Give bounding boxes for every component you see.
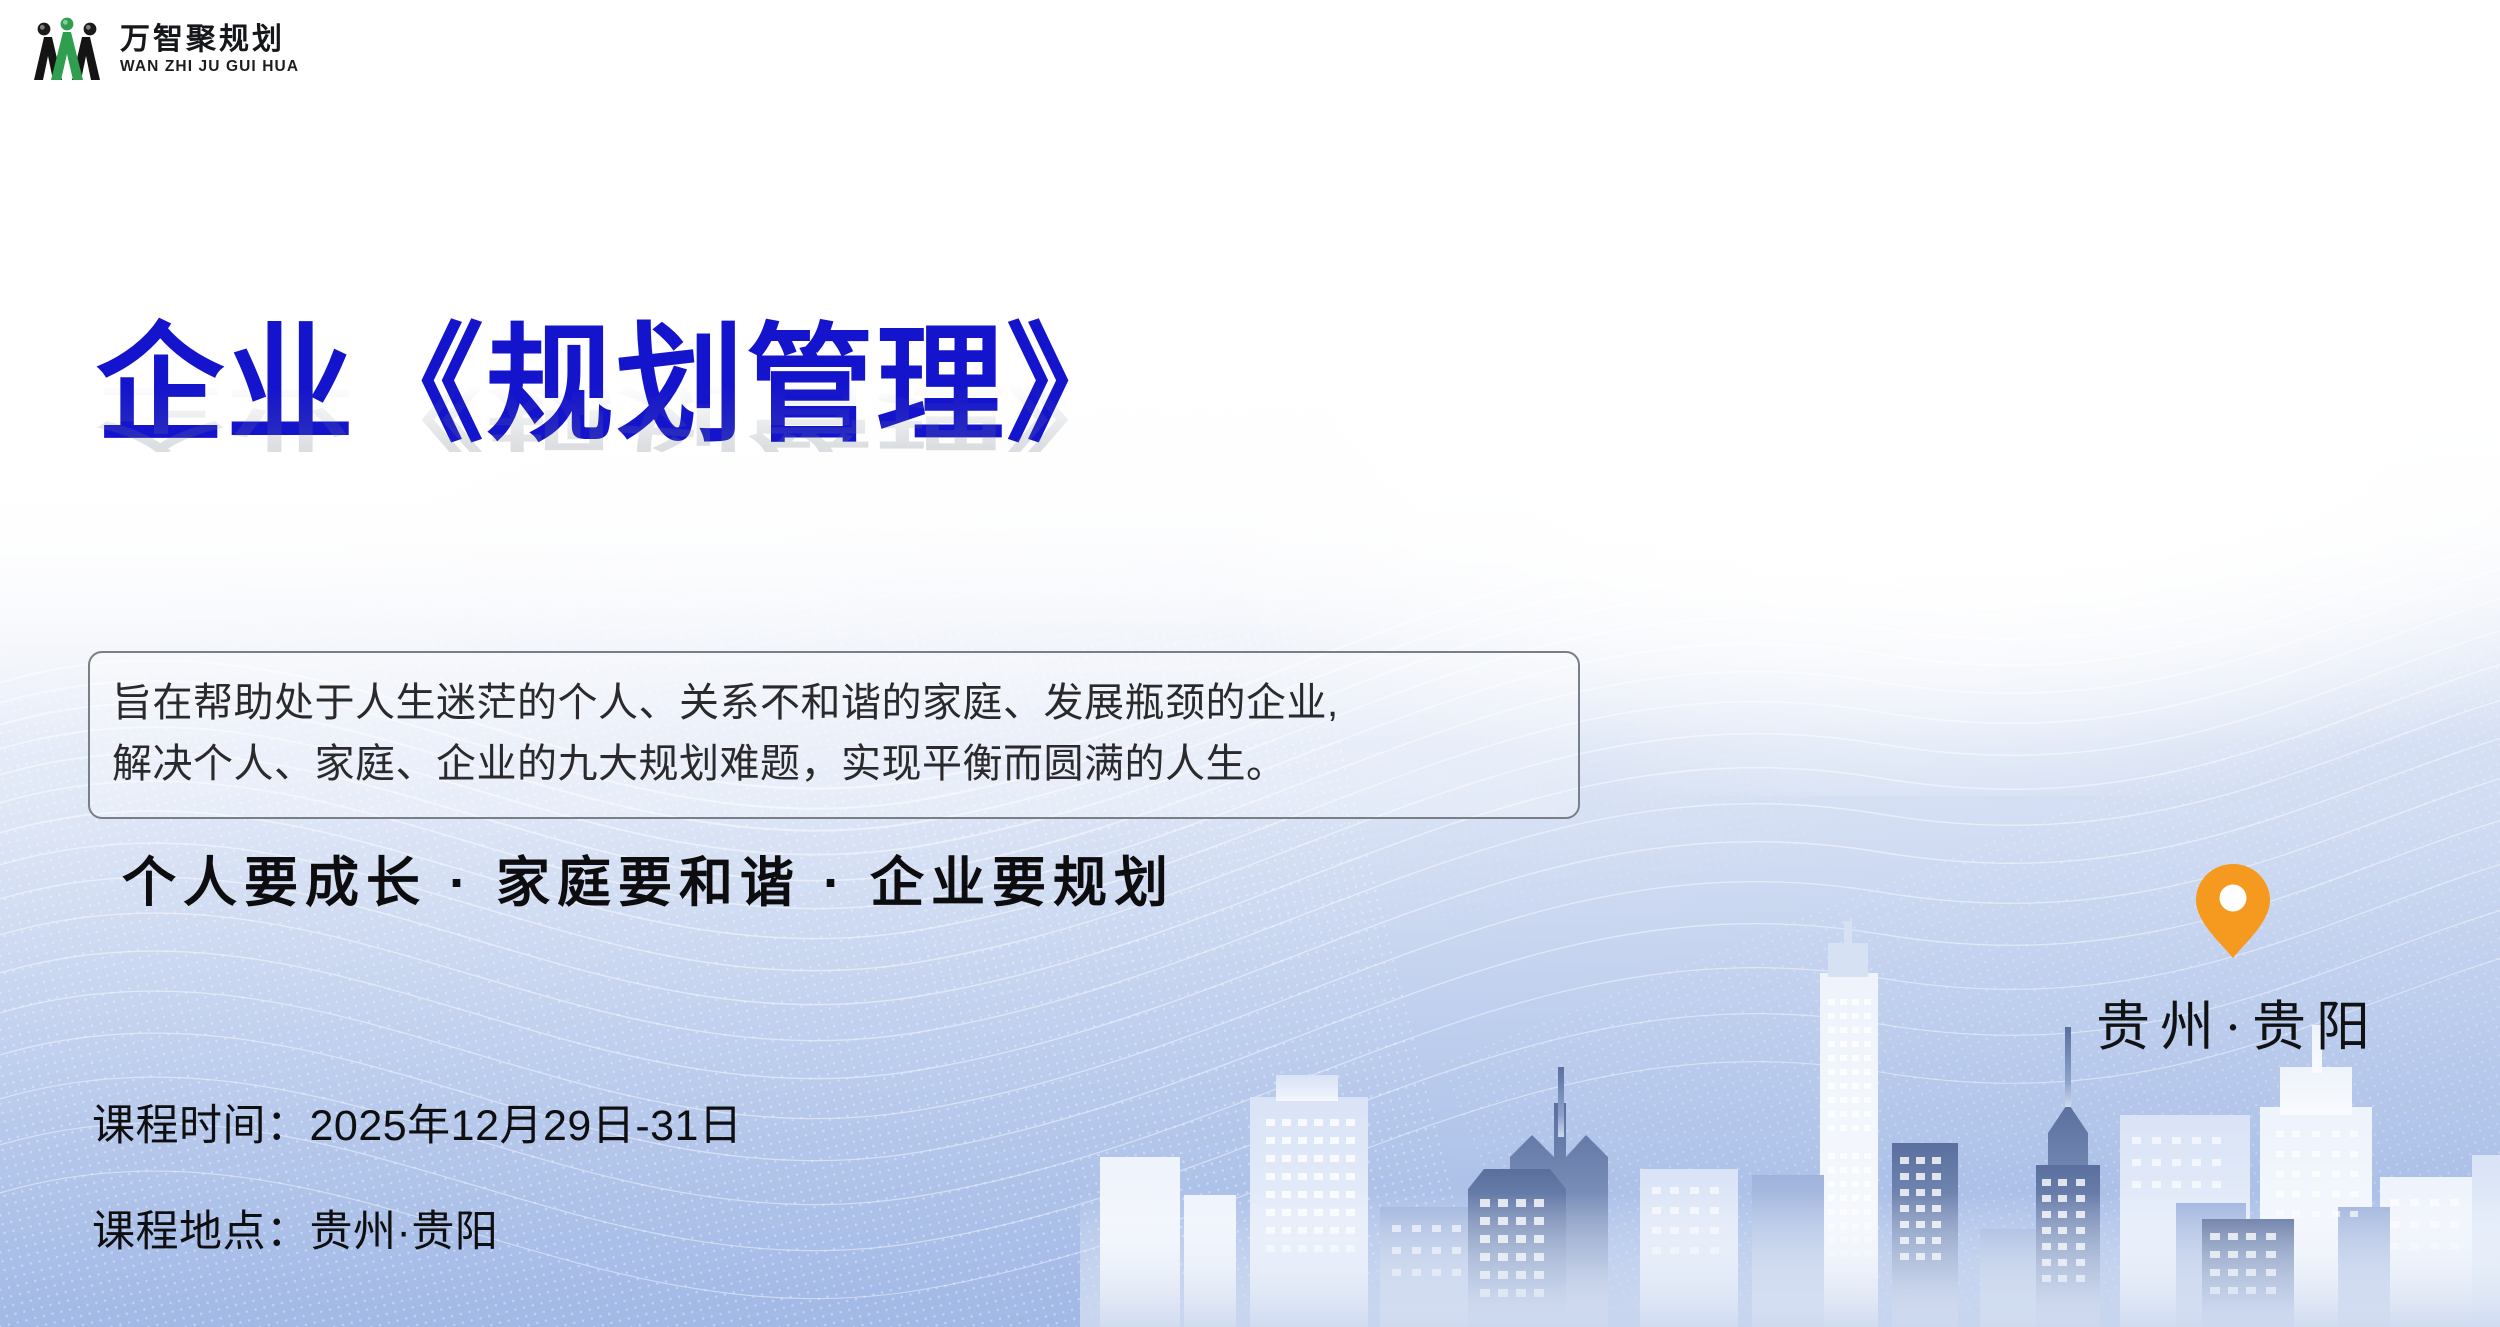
brand-logo-text: 万智聚规划 WAN ZHI JU GUI HUA [120,24,299,77]
slogan-text: 个人要成长 · 家庭要和谐 · 企业要规划 [122,838,1175,917]
course-date-row: 课程时间：2025年12月29日-31日 [92,1091,742,1153]
poster-canvas: 万智聚规划 WAN ZHI JU GUI HUA 企业《规划管理》 企业《规划管… [0,0,2500,1327]
map-pin-icon [2192,862,2274,960]
description-line-1: 旨在帮助处于人生迷茫的个人、关系不和谐的家庭、发展瓶颈的企业, [112,673,1554,734]
three-people-m-logo-icon [28,14,106,86]
location-label: 贵州·贵阳 [2086,982,2380,1061]
brand-name-pinyin: WAN ZHI JU GUI HUA [120,58,299,76]
description-box: 旨在帮助处于人生迷茫的个人、关系不和谐的家庭、发展瓶颈的企业, 解决个人、家庭、… [88,651,1580,819]
brand-logo[interactable]: 万智聚规划 WAN ZHI JU GUI HUA [28,14,299,86]
brand-name-cn: 万智聚规划 [120,24,299,56]
course-place-row: 课程地点：贵州·贵阳 [92,1197,742,1259]
location-block: 贵州·贵阳 [2086,862,2380,1061]
page-title: 企业《规划管理》 [96,322,1136,450]
description-line-2: 解决个人、家庭、企业的九大规划难题，实现平衡而圆满的人生。 [112,734,1554,795]
hero-title-block: 企业《规划管理》 企业《规划管理》 [96,322,1136,580]
course-info-block: 课程时间：2025年12月29日-31日 课程地点：贵州·贵阳 [92,1091,742,1259]
